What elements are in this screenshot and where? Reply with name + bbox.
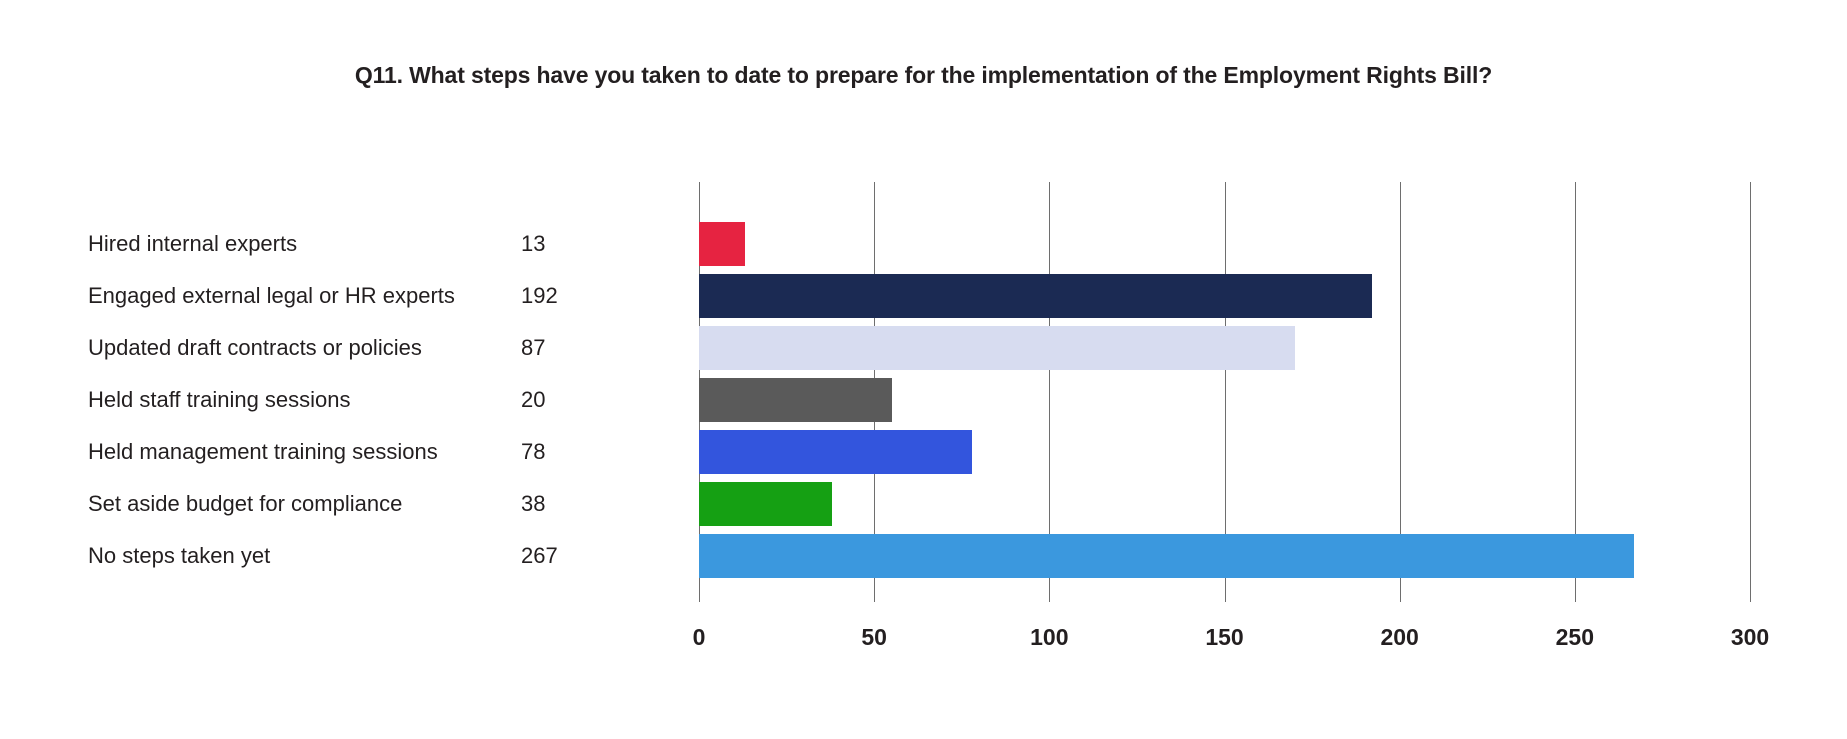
gridline [1750, 182, 1751, 602]
category-label-column: Hired internal experts 13 Engaged extern… [88, 218, 658, 582]
category-row: No steps taken yet 267 [88, 530, 658, 582]
x-tick-label: 300 [1731, 624, 1769, 651]
bar[interactable] [699, 534, 1634, 578]
bar[interactable] [699, 326, 1295, 370]
x-tick-label: 50 [861, 624, 887, 651]
category-label: Updated draft contracts or policies [88, 337, 422, 359]
bars [699, 182, 1750, 602]
category-label: Held staff training sessions [88, 389, 351, 411]
category-row: Set aside budget for compliance 38 [88, 478, 658, 530]
x-tick-label: 150 [1205, 624, 1243, 651]
category-value: 13 [521, 233, 545, 255]
bar-row [699, 426, 1750, 478]
bar-row [699, 322, 1750, 374]
bar[interactable] [699, 222, 745, 266]
category-row: Engaged external legal or HR experts 192 [88, 270, 658, 322]
x-tick-label: 0 [693, 624, 706, 651]
bar[interactable] [699, 482, 832, 526]
x-axis: 050100150200250300 [699, 610, 1750, 656]
category-row: Held management training sessions 78 [88, 426, 658, 478]
category-label: No steps taken yet [88, 545, 270, 567]
x-tick-label: 250 [1556, 624, 1594, 651]
category-row: Held staff training sessions 20 [88, 374, 658, 426]
chart-title: Q11. What steps have you taken to date t… [0, 62, 1847, 89]
bar[interactable] [699, 378, 892, 422]
bar[interactable] [699, 430, 972, 474]
x-tick-label: 100 [1030, 624, 1068, 651]
category-value: 267 [521, 545, 558, 567]
bar-row [699, 478, 1750, 530]
category-label: Hired internal experts [88, 233, 297, 255]
category-value: 38 [521, 493, 545, 515]
bar-chart: Q11. What steps have you taken to date t… [0, 0, 1847, 739]
plot-area [699, 182, 1750, 602]
x-tick-label: 200 [1380, 624, 1418, 651]
category-label: Held management training sessions [88, 441, 438, 463]
bar-row [699, 270, 1750, 322]
category-label: Engaged external legal or HR experts [88, 285, 455, 307]
bar-row [699, 530, 1750, 582]
bar[interactable] [699, 274, 1372, 318]
category-value: 87 [521, 337, 545, 359]
category-row: Updated draft contracts or policies 87 [88, 322, 658, 374]
category-value: 192 [521, 285, 558, 307]
bar-row [699, 374, 1750, 426]
category-label: Set aside budget for compliance [88, 493, 402, 515]
bar-row [699, 218, 1750, 270]
category-value: 20 [521, 389, 545, 411]
category-row: Hired internal experts 13 [88, 218, 658, 270]
category-value: 78 [521, 441, 545, 463]
